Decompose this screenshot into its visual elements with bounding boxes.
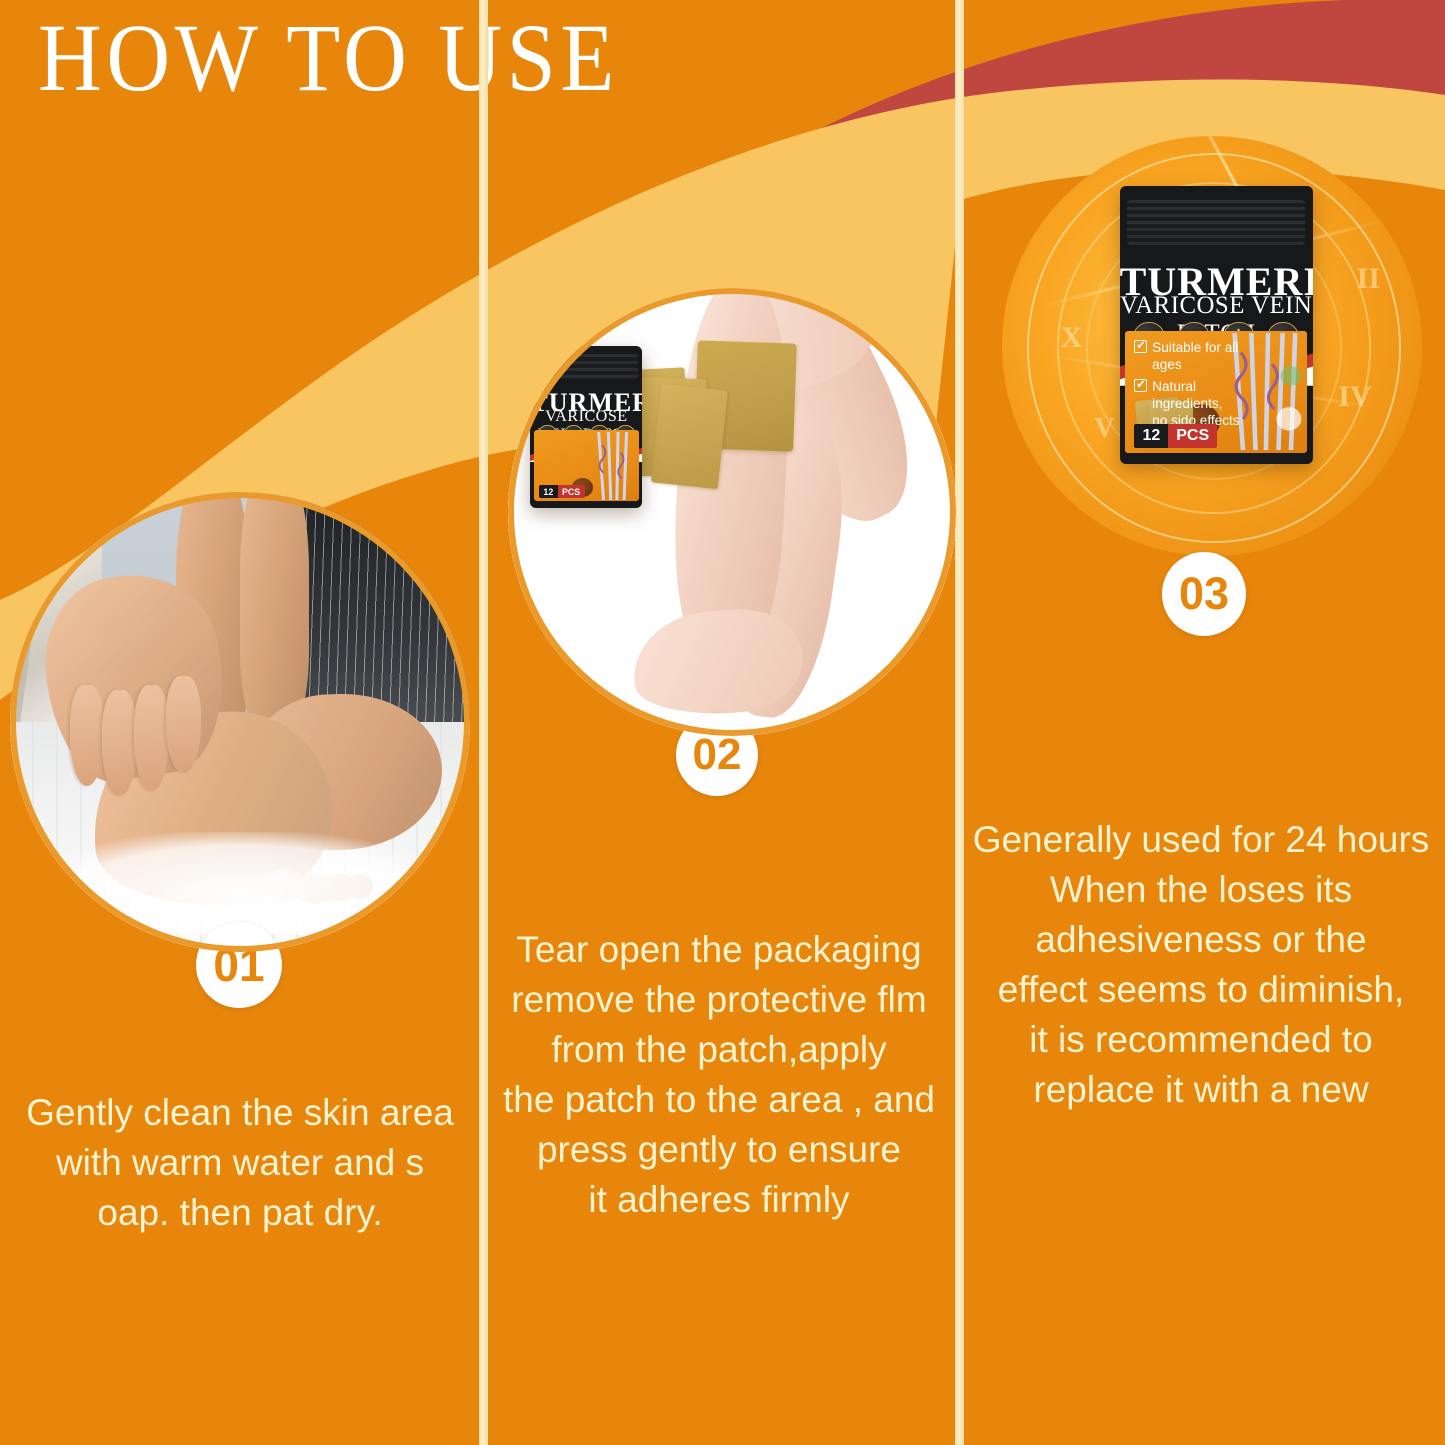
infographic-page: HOW TO USE [0,0,1445,1445]
legs-with-patch-photo: TURMERIC VARICOSE VEIN PATCH [508,288,956,736]
quantity-unit: PCS [1168,424,1217,448]
clock-numeral: II [1357,262,1380,296]
finger [166,676,201,773]
pouch-zip-band [1127,200,1305,244]
clock-numeral: IV [1338,380,1371,414]
vein-illustration [589,432,637,500]
finger [102,690,137,796]
step-badge-01: 01 [196,922,282,1008]
soap-foam [28,832,451,933]
page-title: HOW TO USE [38,10,619,106]
finger [134,685,169,791]
step-3-image: X II IV V TURMERIC VARICOSE VEIN PATCH F… [1002,136,1422,556]
quantity-unit: PCS [558,485,585,498]
quantity-tag: 12 PCS [1134,424,1217,448]
bullet-text: Natural ingredients, no sido effects [1152,379,1240,430]
pouch-illustration: 12 PCS [534,430,639,501]
pouch-zip-band [535,354,638,380]
pouch-illustration: ✔ Suitable for all ages ✔ Natural ingred… [1125,331,1307,453]
checkbox-icon: ✔ [1134,340,1147,353]
step-2-image: TURMERIC VARICOSE VEIN PATCH [508,288,956,736]
bullet-text: Suitable for all ages [1152,340,1240,374]
quantity-number: 12 [1134,424,1168,448]
step-badge-03: 03 [1162,552,1246,636]
step-3-caption: Generally used for 24 hours When the los… [962,815,1440,1115]
column-divider-2 [955,0,964,1445]
bullet-item: ✔ Natural ingredients, no sido effects [1134,379,1239,430]
clock-numeral: V [1094,413,1114,445]
loose-patch [651,383,728,488]
step-badge-02: 02 [676,714,758,796]
step-1-image [10,492,470,952]
column-divider-1 [479,0,488,1445]
feet-in-shower-photo [10,492,470,952]
product-pouch-large: TURMERIC VARICOSE VEIN PATCH FDA GMP ⚕ C… [1120,186,1313,463]
quantity-number: 12 [539,485,558,498]
quantity-tag: 12 PCS [539,485,585,498]
clock-numeral: X [1061,321,1083,355]
bullet-item: ✔ Suitable for all ages [1134,340,1239,374]
product-pouch-small: TURMERIC VARICOSE VEIN PATCH [530,346,642,507]
step-1-caption: Gently clean the skin area with warm wat… [8,1088,472,1238]
step-2-caption: Tear open the packaging remove the prote… [486,925,952,1225]
checkbox-icon: ✔ [1134,379,1147,392]
product-bullets: ✔ Suitable for all ages ✔ Natural ingred… [1134,340,1239,434]
right-leg [240,492,309,731]
